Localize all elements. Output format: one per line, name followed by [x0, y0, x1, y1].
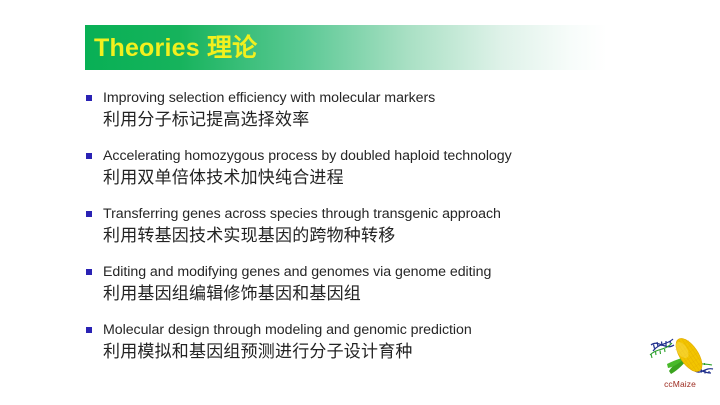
bullet-text-chinese: 利用基因组编辑修饰基因和基因组: [103, 282, 646, 305]
list-item: Molecular design through modeling and ge…: [86, 320, 646, 363]
bullet-text-chinese: 利用模拟和基因组预测进行分子设计育种: [103, 340, 646, 363]
bullet-text-english: Editing and modifying genes and genomes …: [103, 262, 646, 282]
square-bullet-icon: [86, 95, 92, 101]
bullet-list: Improving selection efficiency with mole…: [86, 88, 646, 363]
square-bullet-icon: [86, 327, 92, 333]
square-bullet-icon: [86, 269, 92, 275]
bullet-text-english: Improving selection efficiency with mole…: [103, 88, 646, 108]
list-item: Improving selection efficiency with mole…: [86, 88, 646, 131]
bullet-text-english: Transferring genes across species throug…: [103, 204, 646, 224]
slide-canvas: Theories 理论 Improving selection efficien…: [0, 0, 720, 405]
ccmaize-logo: ccMaize: [643, 331, 717, 399]
list-item: Accelerating homozygous process by doubl…: [86, 146, 646, 189]
list-item: Transferring genes across species throug…: [86, 204, 646, 247]
maize-dna-logo-icon: [643, 331, 717, 381]
list-item: Editing and modifying genes and genomes …: [86, 262, 646, 305]
square-bullet-icon: [86, 211, 92, 217]
bullet-text-english: Accelerating homozygous process by doubl…: [103, 146, 646, 166]
logo-caption: ccMaize: [643, 379, 717, 389]
bullet-text-chinese: 利用分子标记提高选择效率: [103, 108, 646, 131]
bullet-text-english: Molecular design through modeling and ge…: [103, 320, 646, 340]
square-bullet-icon: [86, 153, 92, 159]
page-title: Theories 理论: [94, 28, 594, 68]
bullet-text-chinese: 利用双单倍体技术加快纯合进程: [103, 166, 646, 189]
bullet-text-chinese: 利用转基因技术实现基因的跨物种转移: [103, 224, 646, 247]
